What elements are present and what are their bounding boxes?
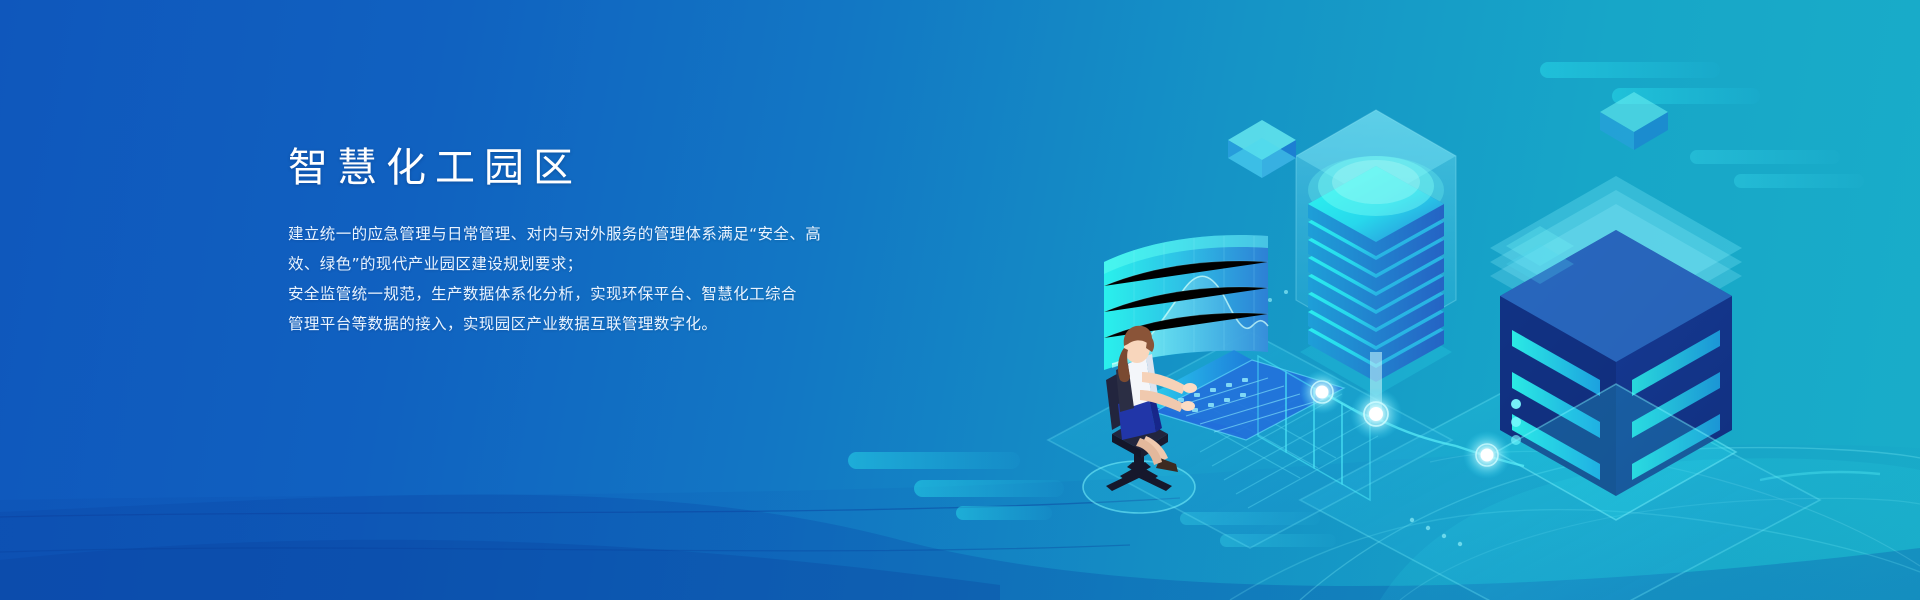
hero-banner: 智慧化工园区 建立统一的应急管理与日常管理、对内与对外服务的管理体系满足“安全、… xyxy=(0,0,1920,600)
description-line-3: 安全监管统一规范，生产数据体系化分析，实现环保平台、智慧化工综合 xyxy=(288,279,888,309)
floating-cube-icon-upper xyxy=(1228,120,1296,178)
hero-text-block: 智慧化工园区 建立统一的应急管理与日常管理、对内与对外服务的管理体系满足“安全、… xyxy=(288,143,888,339)
hero-description: 建立统一的应急管理与日常管理、对内与对外服务的管理体系满足“安全、高 效、绿色”… xyxy=(288,219,888,339)
page-title: 智慧化工园区 xyxy=(288,143,888,193)
description-line-1: 建立统一的应急管理与日常管理、对内与对外服务的管理体系满足“安全、高 xyxy=(288,219,888,249)
floating-cube-icon-right xyxy=(1600,92,1668,150)
description-line-2: 效、绿色”的现代产业园区建设规划要求； xyxy=(288,249,888,279)
description-line-4: 管理平台等数据的接入，实现园区产业数据互联管理数字化。 xyxy=(288,309,888,339)
